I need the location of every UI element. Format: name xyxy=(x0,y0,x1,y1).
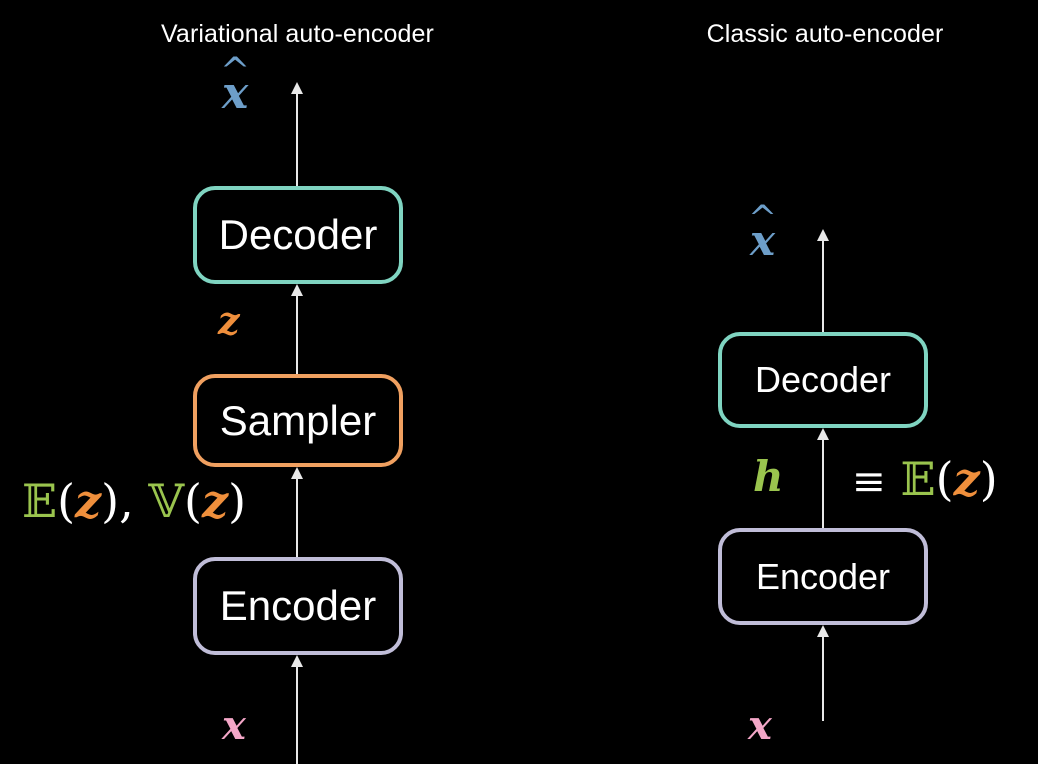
left-input-x-label: x xyxy=(222,706,246,746)
arrow-shaft xyxy=(296,292,298,374)
right-decoder-box[interactable]: Decoder xyxy=(718,332,928,428)
right-arrow-decoder-to-output xyxy=(817,229,829,332)
left-arrow-decoder-to-output xyxy=(291,82,303,188)
arrow-shaft xyxy=(822,633,824,721)
left-decoder-box[interactable]: Decoder xyxy=(193,186,403,284)
right-decoder-label: Decoder xyxy=(755,359,891,401)
open-paren: ( xyxy=(57,474,75,528)
arrow-shaft xyxy=(296,663,298,764)
diagram-canvas: Variational auto-encoder ^x Decoder z Sa… xyxy=(0,0,1038,764)
right-panel-title: Classic auto-encoder xyxy=(640,20,1010,49)
variance-symbol: 𝕍 xyxy=(148,474,184,528)
moments-argument-z: z xyxy=(202,474,228,528)
right-arrow-encoder-to-decoder xyxy=(817,428,829,528)
close-paren: ) xyxy=(228,474,246,528)
left-output-xhat-label: ^x xyxy=(222,72,248,116)
right-arrow-input-to-encoder xyxy=(817,625,829,721)
left-arrow-sampler-to-decoder xyxy=(291,284,303,374)
identity-argument-z: z xyxy=(954,452,980,506)
right-encoder-box[interactable]: Encoder xyxy=(718,528,928,625)
left-input-x-glyph: x xyxy=(222,702,246,749)
left-arrow-input-to-encoder xyxy=(291,655,303,764)
left-latent-z-glyph: z xyxy=(218,298,240,343)
right-output-xhat-label: ^x xyxy=(750,220,775,262)
left-panel-title: Variational auto-encoder xyxy=(90,20,505,49)
close-paren: ) xyxy=(101,474,119,528)
left-moments-label: 𝔼(z), 𝕍(z) xyxy=(22,478,246,524)
left-decoder-label: Decoder xyxy=(219,211,378,259)
expectation-symbol: 𝔼 xyxy=(901,452,936,506)
arrow-shaft xyxy=(296,90,298,188)
close-paren: ) xyxy=(980,452,998,506)
left-arrow-encoder-to-sampler xyxy=(291,467,303,557)
arrow-shaft xyxy=(296,475,298,557)
left-xhat-accent-icon: ^ xyxy=(220,53,250,89)
arrow-shaft xyxy=(822,237,824,332)
right-encoder-label: Encoder xyxy=(756,556,890,598)
left-latent-z-label: z xyxy=(218,302,240,340)
left-encoder-label: Encoder xyxy=(220,582,376,630)
right-hidden-h-glyph: h xyxy=(753,452,784,501)
equivalence-symbol: ≡ xyxy=(852,457,886,505)
left-sampler-box[interactable]: Sampler xyxy=(193,374,403,467)
left-sampler-label: Sampler xyxy=(220,397,376,445)
expectation-symbol: 𝔼 xyxy=(22,474,57,528)
left-encoder-box[interactable]: Encoder xyxy=(193,557,403,655)
right-identity-label: ≡ 𝔼(z) xyxy=(852,456,998,502)
moments-comma: , xyxy=(119,474,134,528)
right-input-x-glyph: x xyxy=(748,702,772,749)
open-paren: ( xyxy=(936,452,954,506)
right-hidden-h-label: h xyxy=(753,456,784,498)
moments-argument-z: z xyxy=(75,474,101,528)
right-input-x-label: x xyxy=(748,706,772,746)
right-xhat-accent-icon: ^ xyxy=(748,202,777,236)
open-paren: ( xyxy=(184,474,202,528)
arrow-shaft xyxy=(822,436,824,528)
